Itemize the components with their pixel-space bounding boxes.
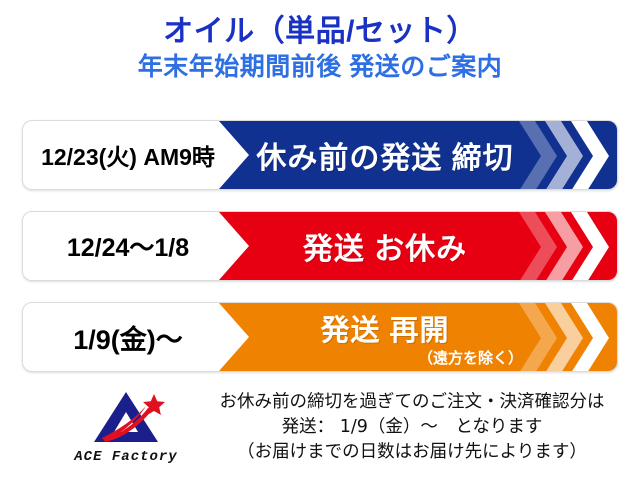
schedule-row-date: 12/23(火) AM9時 xyxy=(23,121,237,189)
shipping-schedule-list: 12/23(火) AM9時 休み前の発送 締切 12/24〜1/8 発送 お休み xyxy=(22,120,618,393)
chevron-arrows-icon xyxy=(513,212,609,280)
footer-note-line-1: お休み前の締切を過ぎてのご注文・決済確認分は xyxy=(190,390,634,415)
page-title-line1: オイル（単品/セット） xyxy=(0,14,640,49)
footer-note-line-2: 発送： 1/9（金）〜 となります xyxy=(190,415,634,440)
brand-logo: ACE Factory xyxy=(62,388,190,465)
schedule-row-holiday: 12/24〜1/8 発送 お休み xyxy=(22,211,618,281)
page-title-line2: 年末年始期間前後 発送のご案内 xyxy=(0,53,640,83)
ace-factory-logo-icon xyxy=(74,388,178,448)
footer-note-line-3: （お届けまでの日数はお届け先によります） xyxy=(190,440,634,465)
schedule-row-deadline: 12/23(火) AM9時 休み前の発送 締切 xyxy=(22,120,618,190)
footer: ACE Factory お休み前の締切を過ぎてのご注文・決済確認分は 発送： 1… xyxy=(0,386,640,480)
schedule-row-date: 12/24〜1/8 xyxy=(23,212,247,280)
chevron-arrows-icon xyxy=(513,303,609,371)
page-title: オイル（単品/セット） 年末年始期間前後 発送のご案内 xyxy=(0,0,640,83)
footer-note: お休み前の締切を過ぎてのご注文・決済確認分は 発送： 1/9（金）〜 となります… xyxy=(190,390,634,465)
schedule-row-resume: 1/9(金)〜 発送 再開 （遠方を除く） xyxy=(22,302,618,372)
brand-name: ACE Factory xyxy=(62,449,190,465)
schedule-row-date: 1/9(金)〜 xyxy=(23,303,255,371)
chevron-arrows-icon xyxy=(513,121,609,189)
